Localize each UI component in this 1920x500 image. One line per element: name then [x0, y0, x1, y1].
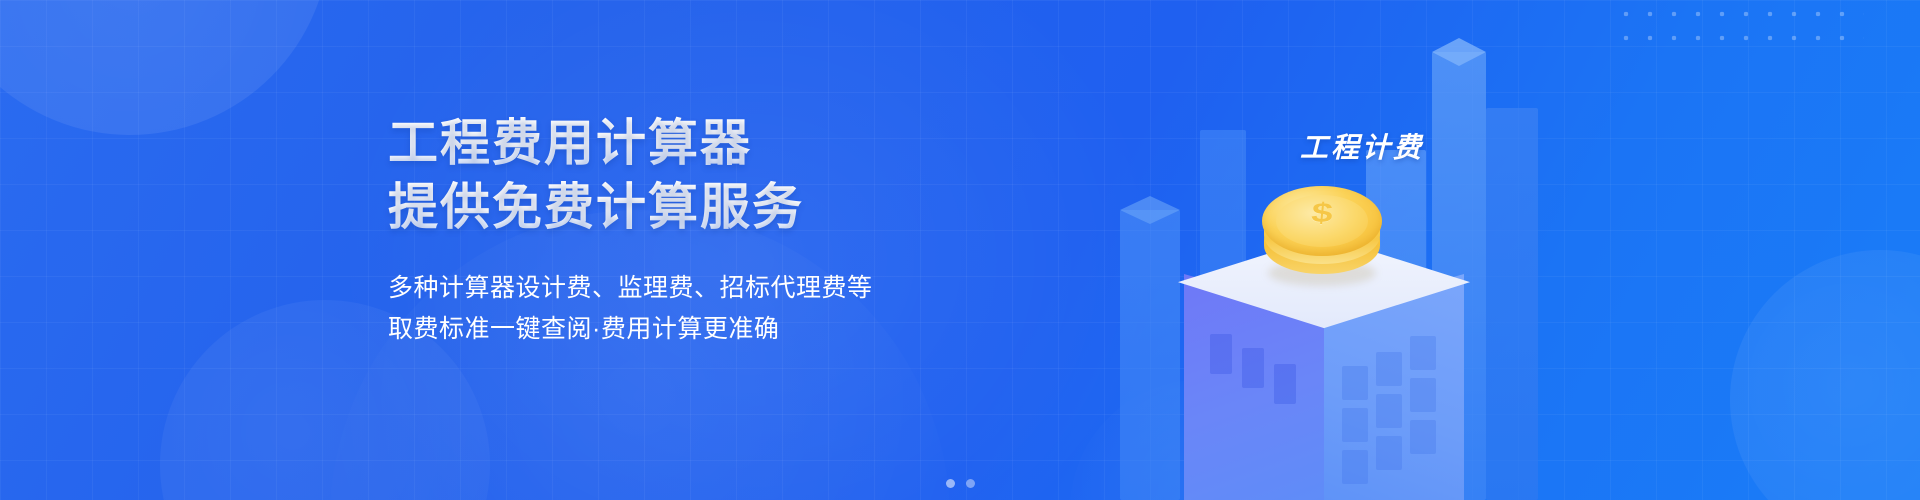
building-window — [1342, 408, 1368, 442]
building-window — [1376, 394, 1402, 428]
headline-line-2: 提供免费计算服务 — [388, 176, 1008, 238]
badge-label: 工程计费 — [1300, 126, 1424, 166]
gold-coin-icon: $ — [1260, 186, 1384, 298]
building-window — [1274, 364, 1296, 404]
coin-top-face: $ — [1262, 186, 1382, 256]
dot-grid-pattern-icon — [1614, 2, 1864, 50]
promo-banner: 工程费用计算器 提供免费计算服务 多种计算器设计费、监理费、招标代理费等 取费标… — [0, 0, 1920, 500]
background-bar-left — [1120, 210, 1180, 500]
subtitle-line-2: 取费标准一键查阅·费用计算更准确 — [388, 309, 1008, 350]
banner-text-block: 工程费用计算器 提供免费计算服务 多种计算器设计费、监理费、招标代理费等 取费标… — [388, 112, 1008, 350]
building-window — [1410, 378, 1436, 412]
isometric-illustration: 工程计费 — [1080, 0, 1640, 500]
building-window — [1376, 352, 1402, 386]
carousel-dot-1[interactable] — [946, 479, 955, 488]
carousel-indicator[interactable] — [0, 479, 1920, 488]
building-window — [1410, 336, 1436, 370]
building-window — [1242, 348, 1264, 388]
subtitle-line-1: 多种计算器设计费、监理费、招标代理费等 — [388, 268, 1008, 309]
building-window — [1376, 436, 1402, 470]
headline-line-1: 工程费用计算器 — [388, 112, 1008, 174]
decorative-circle-top-left — [0, 0, 330, 135]
building-window — [1410, 420, 1436, 454]
building-window — [1342, 366, 1368, 400]
building-window — [1210, 334, 1232, 374]
decorative-circle-right — [1730, 250, 1920, 500]
carousel-dot-2[interactable] — [966, 479, 975, 488]
subtitle-block: 多种计算器设计费、监理费、招标代理费等 取费标准一键查阅·费用计算更准确 — [388, 268, 1008, 350]
background-bar-right — [1486, 108, 1538, 500]
dollar-sign-icon: $ — [1260, 198, 1383, 229]
